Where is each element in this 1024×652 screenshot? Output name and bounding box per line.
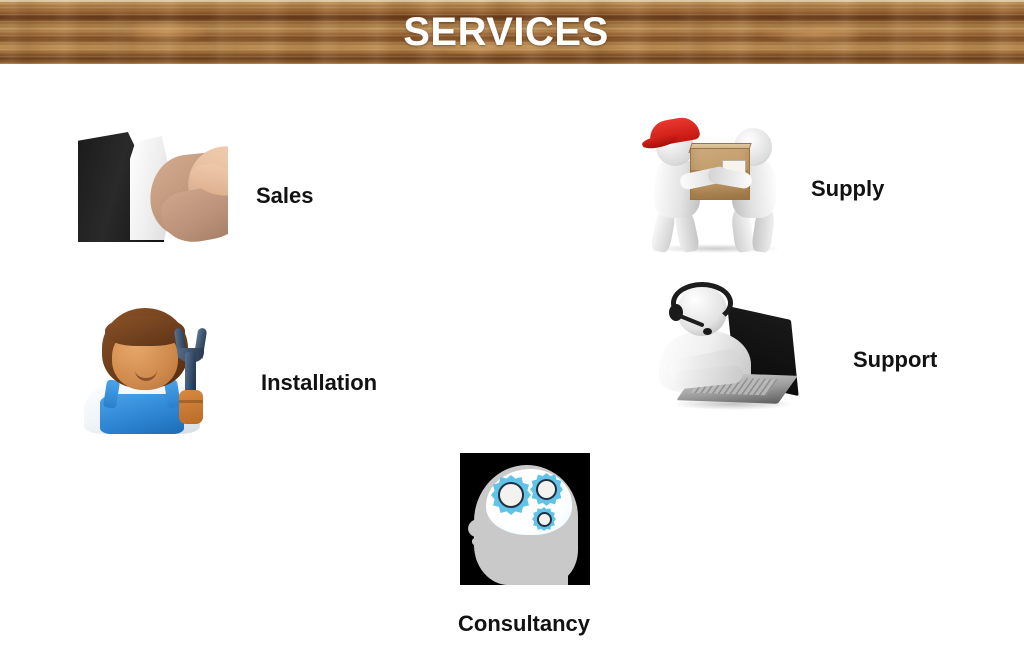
sales-handshake-icon — [78, 126, 228, 244]
consultancy-brain-gears-icon — [460, 453, 590, 585]
headset-microphone-tip — [703, 328, 712, 335]
service-label-support: Support — [853, 347, 937, 373]
gear-hub — [536, 479, 557, 500]
support-agent-icon — [655, 282, 803, 418]
service-label-sales: Sales — [256, 183, 314, 209]
technician-hand — [179, 390, 203, 424]
service-label-consultancy: Consultancy — [458, 611, 590, 637]
gear-hub — [537, 512, 552, 527]
service-label-installation: Installation — [261, 370, 377, 396]
gear-icon-small — [532, 507, 556, 531]
technician-hand-crease — [179, 400, 203, 403]
service-label-supply: Supply — [811, 176, 884, 202]
gear-icon-medium — [530, 473, 563, 506]
technician-hair-fringe — [105, 316, 185, 346]
handshake-image — [78, 126, 228, 244]
supply-delivery-icon — [640, 112, 792, 248]
gear-hub — [498, 482, 524, 508]
gear-icon-large — [491, 475, 531, 515]
page-title: SERVICES — [0, 0, 1024, 64]
installation-technician-icon — [78, 308, 218, 432]
header-banner: SERVICES — [0, 0, 1024, 64]
head-chin-shape — [476, 545, 510, 569]
